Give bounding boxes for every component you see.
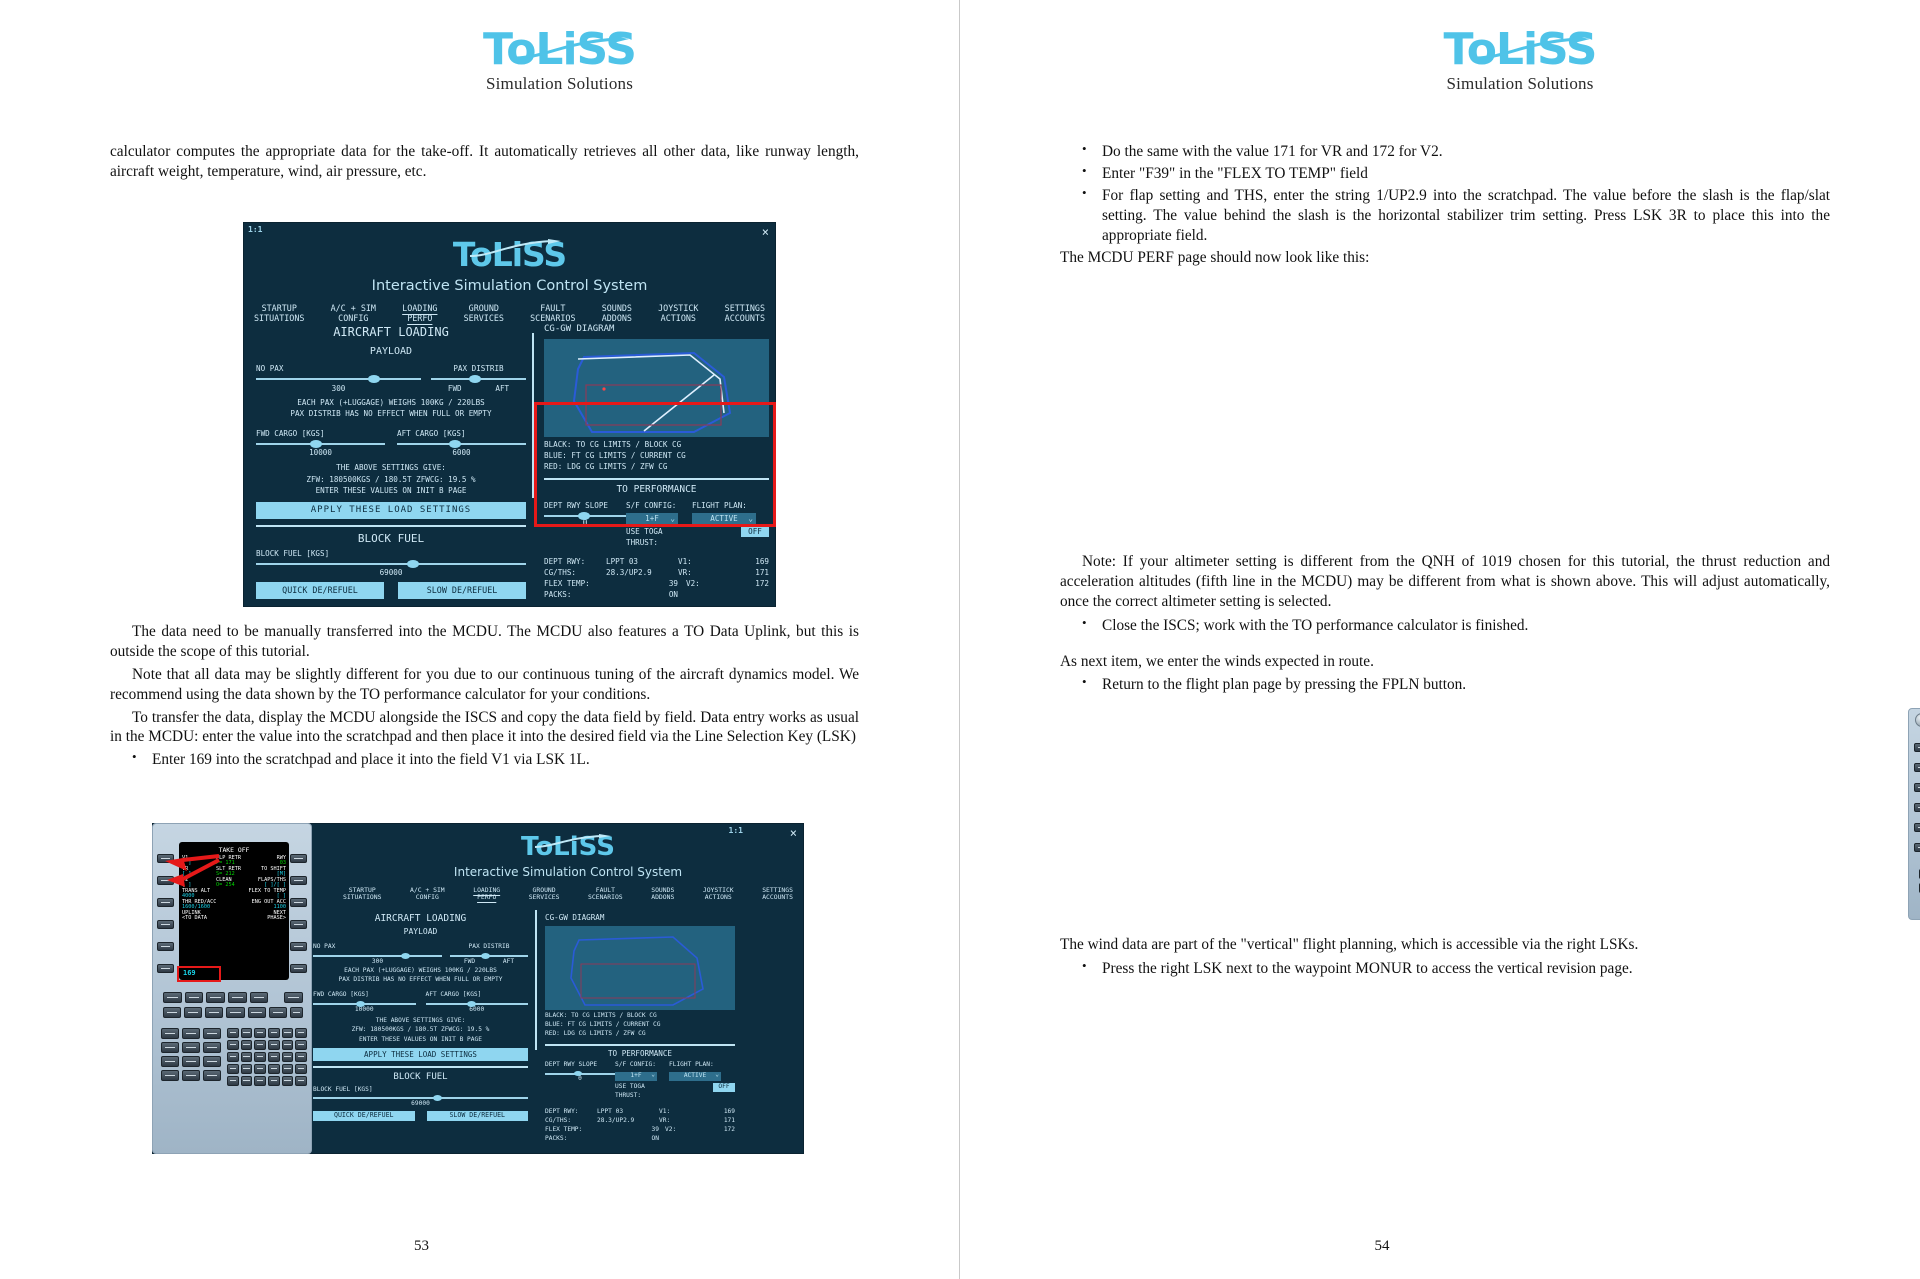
tab-joystick-actions[interactable]: JOYSTICK ACTIONS: [658, 304, 698, 323]
sf-config-dropdown-2[interactable]: 1+F ⌄: [615, 1072, 657, 1081]
num-9-key[interactable]: [203, 1056, 221, 1067]
key-q[interactable]: [282, 1052, 294, 1062]
tab-settings-accounts[interactable]: SETTINGS ACCOUNTS: [725, 304, 765, 323]
pax-slider-knob[interactable]: [368, 375, 380, 383]
lsk-1r[interactable]: [290, 854, 307, 863]
packs-label: PACKS:: [544, 589, 606, 600]
cg-legend-red-2: RED: LDG CG LIMITS / ZFW CG: [545, 1030, 735, 1039]
tab-ac-sim-config-2[interactable]: A/C + SIMCONFIG: [410, 887, 445, 902]
paragraph-transfer: The data need to be manually transferred…: [110, 622, 859, 662]
aft-cargo-slider-knob[interactable]: [449, 440, 461, 448]
key-m[interactable]: [227, 1052, 239, 1062]
vr-label: VR:: [678, 567, 708, 578]
lsk-5r[interactable]: [290, 942, 307, 951]
document-spread: ToLiSS Simulation Solutions calculator c…: [0, 0, 1920, 1279]
brightness-knob-s[interactable]: [1915, 713, 1920, 727]
v1-value-2: 169: [683, 1108, 735, 1117]
page-number-left: 53: [0, 1238, 959, 1255]
tab-sounds-addons[interactable]: SOUNDS ADDONS: [602, 304, 632, 323]
above-settings-label: THE ABOVE SETTINGS GIVE:: [256, 462, 526, 473]
key-u[interactable]: [254, 1064, 266, 1074]
cg-legend-blue-2: BLUE: FT CG LIMITS / CURRENT CG: [545, 1021, 735, 1030]
cg-gw-heading-2: CG-GW DIAGRAM: [545, 912, 735, 923]
toga-thrust-label: USE TOGA THRUST:: [626, 526, 692, 548]
pax-note-2-2: PAX DISTRIB HAS NO EFFECT WHEN FULL OR E…: [313, 975, 528, 984]
list-item: Enter 169 into the scratchpad and place …: [110, 750, 859, 770]
block-fuel-heading-2: BLOCK FUEL: [313, 1071, 528, 1085]
aft-label: AFT: [495, 383, 509, 394]
dept-rwy-slope-label-2: DEPT RWY SLOPE: [545, 1061, 615, 1070]
fwd-cargo-knob-2[interactable]: [356, 1001, 365, 1007]
paragraph-transfer-how: To transfer the data, display the MCDU a…: [110, 708, 859, 748]
paragraph-note-altimeter: Note: If your altimeter setting is diffe…: [1060, 552, 1830, 612]
flex-temp-label: FLEX TEMP:: [544, 578, 606, 589]
fwd-cargo-value: 10000: [256, 447, 385, 458]
v1-value: 169: [708, 556, 769, 567]
atccomm-key[interactable]: [248, 1007, 266, 1018]
list-item: Enter "F39" in the "FLEX TO TEMP" field: [1060, 164, 1830, 184]
lsk-4l[interactable]: [157, 920, 174, 929]
logo-tagline-right: Simulation Solutions: [1444, 74, 1597, 94]
key-s[interactable]: [227, 1064, 239, 1074]
quick-refuel-button[interactable]: QUICK DE/REFUEL: [256, 582, 384, 599]
slow-refuel-button-2[interactable]: SLOW DE/REFUEL: [427, 1111, 529, 1121]
num-0-key[interactable]: [182, 1070, 200, 1081]
pax-slider-track[interactable]: [256, 378, 421, 380]
aft-cargo-knob-2[interactable]: [467, 1001, 476, 1007]
pax-slider-track-2[interactable]: [313, 955, 442, 957]
key-f[interactable]: [295, 1028, 307, 1038]
vr-value-2: 171: [683, 1117, 735, 1126]
pax-distrib-label-2: PAX DISTRIB: [450, 942, 528, 951]
enter-values-line-2: ENTER THESE VALUES ON INIT B PAGE: [313, 1035, 528, 1044]
key-slash[interactable]: [254, 1076, 266, 1086]
logo-wordmark: ToLiSS: [483, 28, 636, 72]
zfw-line: ZFW: 180500KGS / 180.5T ZFWCG: 19.5 %: [256, 474, 526, 485]
vr-value: 171: [708, 567, 769, 578]
pax-distrib-knob-2[interactable]: [481, 953, 490, 959]
dim-key[interactable]: [290, 1007, 303, 1018]
key-space[interactable]: [268, 1076, 280, 1086]
key-clear[interactable]: [295, 1076, 307, 1086]
num-5-key[interactable]: [182, 1042, 200, 1053]
num-3-key[interactable]: [203, 1028, 221, 1039]
iscs-logo-swoosh-icon-2: [533, 834, 613, 850]
sf-config-value-2: 1+F: [630, 1072, 641, 1079]
num-1-key[interactable]: [161, 1028, 179, 1039]
list-item: For flap setting and THS, enter the stri…: [1060, 186, 1830, 246]
sf-config-label-2: S/F CONFIG:: [615, 1061, 669, 1070]
enter-values-line: ENTER THESE VALUES ON INIT B PAGE: [256, 485, 526, 496]
brand-logo-left: ToLiSS Simulation Solutions: [0, 28, 959, 94]
aft-cargo-value-2: 6000: [426, 1005, 529, 1014]
tab-loading-perfo[interactable]: LOADING PERFO: [402, 304, 437, 323]
flight-plan-label-2: FLIGHT PLAN:: [669, 1061, 735, 1070]
bullet-monur: Press the right LSK next to the waypoint…: [1060, 959, 1830, 979]
flight-plan-value-2: ACTIVE: [684, 1072, 706, 1079]
paragraph-note-tuning: Note that all data may be slightly diffe…: [110, 665, 859, 705]
key-p[interactable]: [268, 1052, 280, 1062]
key-v[interactable]: [268, 1064, 280, 1074]
phase-link-m[interactable]: PHASE>: [226, 916, 286, 921]
fpln-key[interactable]: [163, 1007, 181, 1018]
vr-label-2: VR:: [659, 1117, 683, 1126]
dept-rwy-label-2: DEPT RWY:: [545, 1108, 597, 1117]
table-row: PACKS: ON: [545, 1135, 735, 1144]
v2-label: V2:: [678, 578, 708, 589]
fwd-cargo-label-2: FWD CARGO [KGS]: [313, 990, 416, 999]
num-7-key[interactable]: [161, 1056, 179, 1067]
data-key[interactable]: [250, 992, 269, 1003]
cg-ths-value: 28.3/UP2.9: [606, 567, 678, 578]
tab-settings-accounts-2[interactable]: SETTINGSACCOUNTS: [762, 887, 793, 902]
mcdu-row: <TO DATAPHASE>: [182, 916, 286, 921]
block-fuel-track-2[interactable]: [313, 1097, 528, 1099]
num-6-key[interactable]: [203, 1042, 221, 1053]
paragraph-perf-lead: The MCDU PERF page should now look like …: [1060, 248, 1830, 268]
figure-mcdu-perf-small: TAKE OFF V1FLP RETRRWY 169F= 17103 VRSLT…: [1908, 708, 1920, 920]
secfpln-key[interactable]: [226, 1007, 244, 1018]
key-y[interactable]: [227, 1076, 239, 1086]
key-t[interactable]: [241, 1064, 253, 1074]
paragraph-wind-data: The wind data are part of the "vertical"…: [1060, 935, 1830, 955]
num-4-key[interactable]: [161, 1042, 179, 1053]
key-e[interactable]: [282, 1028, 294, 1038]
payload-label-2: PAYLOAD: [313, 926, 528, 938]
list-item: Close the ISCS; work with the TO perform…: [1060, 616, 1830, 636]
paragraph-intro: calculator computes the appropriate data…: [110, 142, 859, 182]
perf-row: DEPT RWY: LPPT 03 V1: 169: [544, 556, 769, 567]
cg-gw-diagram-2: [545, 926, 735, 1010]
mcdu-numpad: [161, 1028, 221, 1081]
bullet-list-right-top: Do the same with the value 171 for VR an…: [1060, 142, 1830, 245]
block-fuel-label: BLOCK FUEL [KGS]: [256, 548, 526, 559]
fwd-label: FWD: [448, 383, 462, 394]
list-item: Press the right LSK next to the waypoint…: [1060, 959, 1830, 979]
iscs-tabbar: STARTUP SITUATIONS A/C + SIM CONFIG LOAD…: [244, 304, 775, 323]
iscs-subtitle: Interactive Simulation Control System: [244, 278, 775, 294]
dept-rwy-value-2: LPPT 03: [597, 1108, 659, 1117]
lsk-4r[interactable]: [290, 920, 307, 929]
v1-label-2: V1:: [659, 1108, 683, 1117]
v1-label: V1:: [678, 556, 708, 567]
packs-label-2: PACKS:: [545, 1135, 597, 1144]
table-row: CG/THS: 28.3/UP2.9 VR: 171: [545, 1117, 735, 1126]
quick-refuel-button-2[interactable]: QUICK DE/REFUEL: [313, 1111, 415, 1121]
mcdu-menu-key[interactable]: [284, 992, 303, 1003]
key-i[interactable]: [254, 1040, 266, 1050]
tab-ground-services-2[interactable]: GROUNDSERVICES: [529, 887, 560, 902]
plusminus-key[interactable]: [203, 1070, 221, 1081]
lsk-2l-s[interactable]: [1914, 763, 1920, 772]
init-key[interactable]: [228, 992, 247, 1003]
chevron-down-icon-3: ⌄: [651, 1071, 655, 1080]
dot-key[interactable]: [161, 1070, 179, 1081]
zfw-line-2: ZFW: 180500KGS / 180.5T ZFWCG: 19.5 %: [313, 1025, 528, 1034]
cg-legend-black-2: BLACK: TO CG LIMITS / BLOCK CG: [545, 1012, 735, 1021]
lsk-6r[interactable]: [290, 964, 307, 973]
fuelpred-key[interactable]: [205, 1007, 223, 1018]
dept-rwy-label: DEPT RWY:: [544, 556, 606, 567]
mcdu-screen-perf-empty: TAKE OFF V1FLP RETRRWY [ ]F= 17103 VRSLT…: [179, 842, 289, 980]
flex-temp-label-2: FLEX TEMP:: [545, 1126, 597, 1135]
key-c[interactable]: [254, 1028, 266, 1038]
pax-distrib-label: PAX DISTRIB: [431, 363, 526, 374]
perf-row: CG/THS: 28.3/UP2.9 VR: 171: [544, 567, 769, 578]
aft-label-2: AFT: [503, 957, 514, 966]
iscs-scale-label: 1:1: [248, 225, 262, 234]
aircraft-loading-heading: AIRCRAFT LOADING: [256, 323, 526, 341]
cg-ths-label: CG/THS:: [544, 567, 606, 578]
key-o[interactable]: [254, 1052, 266, 1062]
num-8-key[interactable]: [182, 1056, 200, 1067]
key-x[interactable]: [295, 1064, 307, 1074]
fwd-label-2: FWD: [464, 957, 475, 966]
bullet-list-left: Enter 169 into the scratchpad and place …: [110, 750, 859, 770]
prog-key[interactable]: [185, 992, 204, 1003]
key-w[interactable]: [282, 1064, 294, 1074]
tab-fault-scenarios[interactable]: FAULT SCENARIOS: [530, 304, 575, 323]
tab-joystick-actions-2[interactable]: JOYSTICKACTIONS: [703, 887, 734, 902]
key-overfly[interactable]: [282, 1076, 294, 1086]
v2-value: 172: [708, 578, 769, 589]
logo-wordmark-right: ToLiSS: [1444, 28, 1597, 72]
v2-value-2: 172: [683, 1126, 735, 1135]
table-row: FLEX TEMP: 39 V2: 172: [545, 1126, 735, 1135]
figure-mcdu-and-iscs: 1:1 × ToLiSS Interactive Simulation Cont…: [152, 823, 804, 1154]
lsk-3r[interactable]: [290, 898, 307, 907]
lsk-5l-s[interactable]: [1914, 823, 1920, 832]
tab-fault-scenarios-2[interactable]: FAULTSCENARIOS: [588, 887, 623, 902]
tab-sounds-addons-2[interactable]: SOUNDSADDONS: [651, 887, 674, 902]
pax-distrib-slider-knob[interactable]: [469, 375, 481, 383]
lsk-1l-s[interactable]: [1914, 743, 1920, 752]
lsk-3l-s[interactable]: [1914, 783, 1920, 792]
num-2-key[interactable]: [182, 1028, 200, 1039]
perf-row: FLEX TEMP: 39 V2: 172: [544, 578, 769, 589]
no-pax-label-2: NO PAX: [313, 942, 442, 951]
aircraft-loading-heading-2: AIRCRAFT LOADING: [313, 912, 528, 926]
block-fuel-value: 69000: [256, 567, 526, 578]
iscs-logo: ToLiSS: [244, 235, 775, 274]
paragraph-next-item: As next item, we enter the winds expecte…: [1060, 652, 1830, 672]
table-row: DEPT RWY: LPPT 03 V1: 169: [545, 1108, 735, 1117]
payload-label: PAYLOAD: [256, 344, 526, 359]
mcdu-title: TAKE OFF: [179, 846, 289, 854]
key-n[interactable]: [241, 1052, 253, 1062]
dept-rwy-value: LPPT 03: [606, 556, 678, 567]
pax-value-2: 300: [313, 957, 442, 966]
flex-temp-value: 39: [606, 578, 678, 589]
page-number-right: 54: [960, 1238, 1920, 1255]
key-g[interactable]: [227, 1040, 239, 1050]
apply-load-settings-button[interactable]: APPLY THESE LOAD SETTINGS: [256, 502, 526, 520]
page-right: ToLiSS Simulation Solutions Do the same …: [960, 0, 1920, 1279]
aft-cargo-label: AFT CARGO [KGS]: [397, 428, 526, 439]
logo-text-right: ToLiSS: [1444, 24, 1597, 75]
tab-ac-sim-config[interactable]: A/C + SIM CONFIG: [331, 304, 376, 323]
list-item: Do the same with the value 171 for VR an…: [1060, 142, 1830, 162]
lsk-1l[interactable]: [157, 854, 174, 863]
perf-row: PACKS: ON: [544, 589, 769, 600]
bullet-close-iscs: Close the ISCS; work with the TO perform…: [1060, 616, 1830, 636]
mcdu-function-row-1: [163, 992, 303, 1003]
figure-iscs-loading-perfo: 1:1 × ToLiSS Interactive Simulation Cont…: [243, 222, 776, 607]
aft-cargo-track-2[interactable]: [426, 1003, 529, 1005]
dept-rwy-slope-value-2: 0: [545, 1075, 615, 1084]
mcdu-alphapad: [227, 1028, 307, 1086]
toga-thrust-toggle[interactable]: OFF: [741, 526, 769, 537]
key-j[interactable]: [268, 1040, 280, 1050]
key-r[interactable]: [295, 1052, 307, 1062]
packs-value-2: ON: [597, 1135, 659, 1144]
key-b[interactable]: [241, 1028, 253, 1038]
block-fuel-value-2: 69000: [313, 1099, 528, 1108]
block-fuel-slider-knob[interactable]: [407, 560, 419, 568]
dir-key[interactable]: [163, 992, 182, 1003]
key-d[interactable]: [268, 1028, 280, 1038]
cg-ths-label-2: CG/THS:: [545, 1117, 597, 1126]
lsk-6l[interactable]: [157, 964, 174, 973]
apply-load-settings-button-2[interactable]: APPLY THESE LOAD SETTINGS: [313, 1048, 528, 1061]
key-k[interactable]: [282, 1040, 294, 1050]
toga-thrust-toggle-2[interactable]: OFF: [713, 1083, 735, 1092]
above-settings-label-2: THE ABOVE SETTINGS GIVE:: [313, 1016, 528, 1025]
pax-value: 300: [256, 383, 421, 394]
key-a[interactable]: [227, 1028, 239, 1038]
radnav-key[interactable]: [184, 1007, 202, 1018]
toga-thrust-label-2: USE TOGA THRUST:: [615, 1083, 669, 1101]
aft-cargo-label-2: AFT CARGO [KGS]: [426, 990, 529, 999]
tab-ground-services[interactable]: GROUND SERVICES: [464, 304, 504, 323]
iscs-logo-swoosh-icon: [468, 239, 564, 259]
cg-ths-value-2: 28.3/UP2.9: [597, 1117, 659, 1126]
chevron-down-icon-4: ⌄: [715, 1071, 719, 1080]
airport-key[interactable]: [269, 1007, 287, 1018]
lsk-6l-s[interactable]: [1914, 843, 1920, 852]
tab-startup-situations-2[interactable]: STARTUPSITUATIONS: [343, 887, 381, 902]
perf-key[interactable]: [206, 992, 225, 1003]
block-fuel-heading: BLOCK FUEL: [256, 531, 526, 548]
lsk-4l-s[interactable]: [1914, 803, 1920, 812]
key-l[interactable]: [295, 1040, 307, 1050]
lsk-2r[interactable]: [290, 876, 307, 885]
highlight-to-performance: [534, 402, 776, 527]
pax-note-2: PAX DISTRIB HAS NO EFFECT WHEN FULL OR E…: [256, 408, 526, 419]
panel-divider-2: [535, 910, 537, 1050]
no-pax-label: NO PAX: [256, 363, 421, 374]
tab-startup-situations[interactable]: STARTUP SITUATIONS: [254, 304, 304, 323]
fwd-cargo-value-2: 10000: [313, 1005, 416, 1014]
aft-cargo-slider-track[interactable]: [397, 443, 526, 445]
v2-label-2: V2:: [659, 1126, 683, 1135]
lsk-5l[interactable]: [157, 942, 174, 951]
brand-logo-right: ToLiSS Simulation Solutions: [960, 28, 1920, 94]
packs-value: ON: [606, 589, 678, 600]
highlight-scratchpad: [177, 966, 221, 982]
list-item: Return to the flight plan page by pressi…: [1060, 675, 1830, 695]
bullet-fpln: Return to the flight plan page by pressi…: [1060, 675, 1830, 695]
key-h[interactable]: [241, 1040, 253, 1050]
flex-temp-value-2: 39: [597, 1126, 659, 1135]
slow-refuel-button[interactable]: SLOW DE/REFUEL: [398, 582, 526, 599]
flight-plan-dropdown-2[interactable]: ACTIVE ⌄: [669, 1072, 721, 1081]
pax-note-1-2: EACH PAX (+LUGGAGE) WEIGHS 100KG / 220LB…: [313, 966, 528, 975]
block-fuel-label-2: BLOCK FUEL [KGS]: [313, 1085, 528, 1094]
to-data-link-m[interactable]: <TO DATA: [182, 916, 226, 921]
logo-tagline: Simulation Solutions: [483, 74, 636, 94]
lsk-3l[interactable]: [157, 898, 174, 907]
mcdu-unit-overlay: TAKE OFF V1FLP RETRRWY [ ]F= 17103 VRSLT…: [152, 823, 312, 1154]
block-fuel-slider-track[interactable]: [256, 563, 526, 565]
tab-loading-perfo-2[interactable]: LOADINGPERFO: [473, 887, 500, 902]
pax-slider-knob-2[interactable]: [401, 953, 410, 959]
mcdu-function-row-2: [163, 1007, 303, 1018]
pax-note-1: EACH PAX (+LUGGAGE) WEIGHS 100KG / 220LB…: [256, 397, 526, 408]
to-performance-heading-2: TO PERFORMANCE: [545, 1048, 735, 1059]
aft-cargo-value: 6000: [397, 447, 526, 458]
fwd-cargo-label: FWD CARGO [KGS]: [256, 428, 385, 439]
key-z[interactable]: [241, 1076, 253, 1086]
cg-gw-heading: CG-GW DIAGRAM: [544, 323, 769, 336]
lsk-2l[interactable]: [157, 876, 174, 885]
page-left: ToLiSS Simulation Solutions calculator c…: [0, 0, 960, 1279]
logo-text: ToLiSS: [483, 24, 636, 75]
